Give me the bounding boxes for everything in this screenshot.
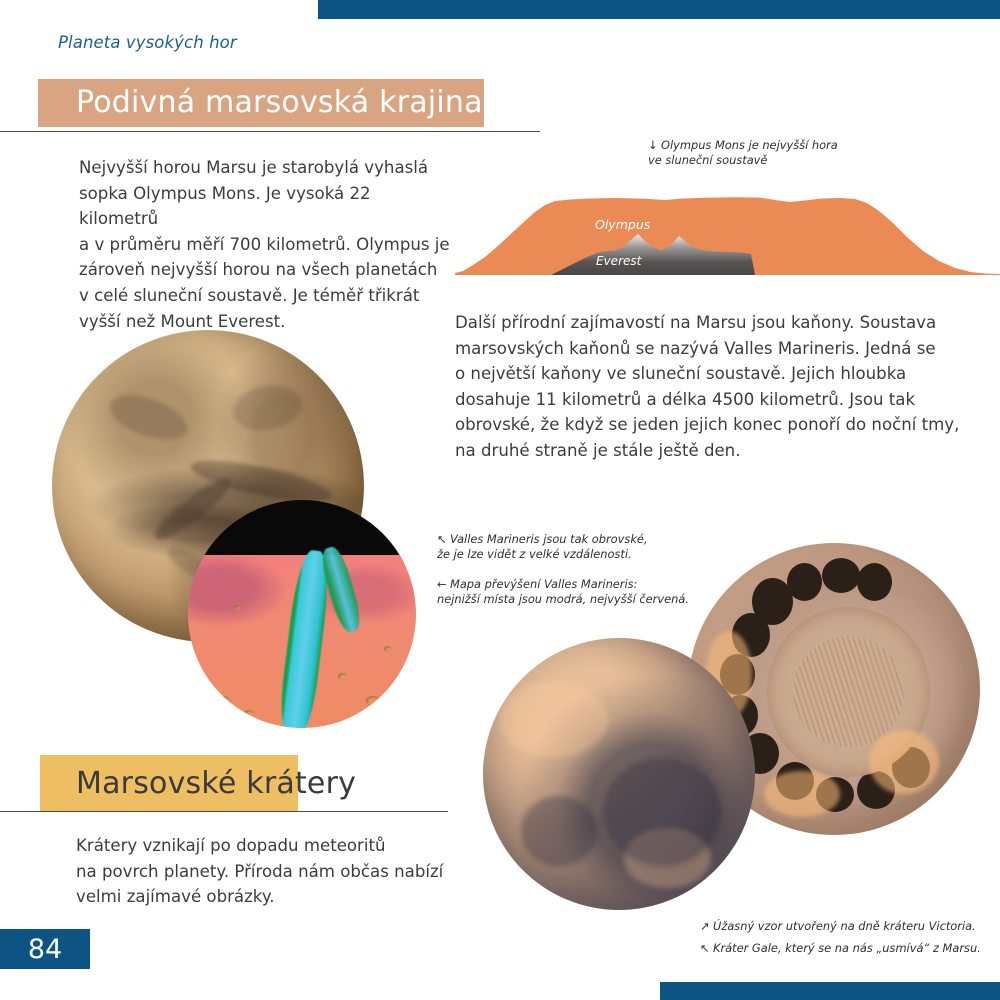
caption-gale-text: Kráter Gale, který se na nás „usmívá“ z … bbox=[713, 941, 981, 955]
caption-victoria: ↗Úžasný vzor utvořený na dně kráteru Vic… bbox=[700, 919, 976, 934]
running-head: Planeta vysokých hor bbox=[58, 33, 237, 52]
heading-rule-craters bbox=[0, 811, 448, 812]
paragraph-craters: Krátery vznikají po dopadu meteoritů na … bbox=[76, 833, 456, 910]
heading-rule-landscape bbox=[0, 131, 540, 132]
arrow-down-icon: ↓ bbox=[648, 138, 661, 153]
caption-valles-map-text: Mapa převýšení Valles Marineris: nejnižš… bbox=[437, 577, 689, 606]
caption-valles-size: ↖Valles Marineris jsou tak obrovské, že … bbox=[437, 532, 648, 562]
arrow-up-left-icon-2: ↖ bbox=[700, 941, 713, 956]
arrow-up-left-icon: ↖ bbox=[437, 532, 450, 547]
heading-craters: Marsovské krátery bbox=[76, 766, 356, 801]
caption-olympus: ↓Olympus Mons je nejvyšší hora ve sluneč… bbox=[648, 138, 838, 168]
heading-landscape: Podivná marsovská krajina bbox=[76, 85, 483, 120]
arrow-left-icon: ← bbox=[437, 577, 450, 592]
bottom-accent-bar bbox=[660, 982, 1000, 1000]
page-number: 84 bbox=[0, 929, 90, 969]
caption-valles-map: ←Mapa převýšení Valles Marineris: nejniž… bbox=[437, 577, 689, 607]
caption-gale: ↖Kráter Gale, který se na nás „usmívá“ z… bbox=[700, 941, 981, 956]
olympus-profile-diagram: Olympus Everest bbox=[455, 185, 1000, 275]
caption-valles-size-text: Valles Marineris jsou tak obrovské, že j… bbox=[437, 532, 648, 561]
caption-victoria-text: Úžasný vzor utvořený na dně kráteru Vict… bbox=[713, 919, 976, 933]
top-accent-bar bbox=[318, 0, 1000, 19]
caption-olympus-text: Olympus Mons je nejvyšší hora ve slunečn… bbox=[648, 138, 838, 167]
page-canvas: Planeta vysokých hor Podivná marsovská k… bbox=[0, 0, 1000, 1000]
olympus-profile-svg: Olympus Everest bbox=[455, 185, 1000, 275]
paragraph-landscape: Nejvyšší horou Marsu je starobylá vyhasl… bbox=[79, 155, 454, 334]
label-olympus: Olympus bbox=[595, 217, 651, 232]
paragraph-canyons: Další přírodní zajímavostí na Marsu jsou… bbox=[455, 310, 985, 464]
crater-gale-image bbox=[483, 638, 755, 910]
valles-marineris-map-image bbox=[188, 500, 416, 728]
arrow-up-right-icon: ↗ bbox=[700, 919, 713, 934]
label-everest: Everest bbox=[596, 254, 643, 268]
